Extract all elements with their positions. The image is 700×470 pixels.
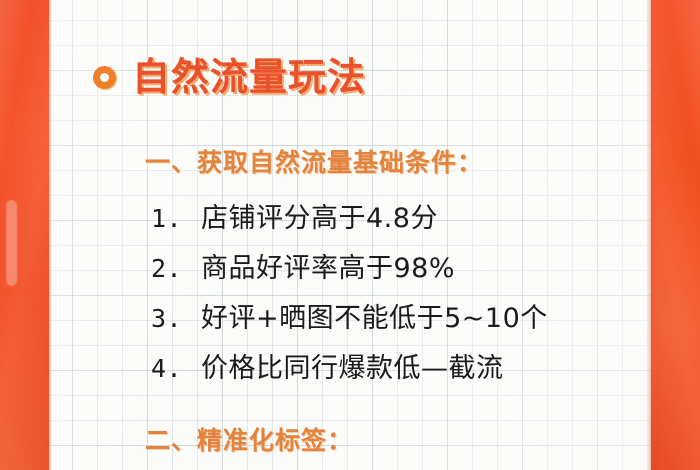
list-item-number: 1. <box>151 204 201 233</box>
list-item: 4. 价格比同行爆款低—截流 <box>151 346 504 385</box>
list-item-text: 店铺评分高于4.8分 <box>201 196 438 235</box>
content-area: 自然流量玩法 一、获取自然流量基础条件： 1. 店铺评分高于4.8分 2. 商品… <box>49 0 651 470</box>
ring-bullet-icon <box>93 66 116 89</box>
list-item-number: 2. <box>151 254 201 283</box>
section-heading-2: 二、精准化标签： <box>145 421 353 457</box>
list-item-number: 4. <box>151 354 201 383</box>
left-orange-band <box>0 0 49 470</box>
list-item-text: 价格比同行爆款低—截流 <box>201 346 504 385</box>
page-title: 自然流量玩法 <box>93 58 366 96</box>
screenshot-root: 自然流量玩法 一、获取自然流量基础条件： 1. 店铺评分高于4.8分 2. 商品… <box>0 0 700 470</box>
list-item-number: 3. <box>151 304 201 333</box>
list-item: 3. 好评+晒图不能低于5~10个 <box>151 296 548 335</box>
list-item-text: 好评+晒图不能低于5~10个 <box>201 296 548 335</box>
list-item-text: 商品好评率高于98% <box>201 246 455 285</box>
right-orange-band <box>651 0 700 470</box>
section-heading-1: 一、获取自然流量基础条件： <box>145 143 483 179</box>
page-title-text: 自然流量玩法 <box>132 58 366 96</box>
list-item: 1. 店铺评分高于4.8分 <box>151 196 438 235</box>
scroll-indicator[interactable] <box>6 200 17 286</box>
list-item: 2. 商品好评率高于98% <box>151 246 455 285</box>
